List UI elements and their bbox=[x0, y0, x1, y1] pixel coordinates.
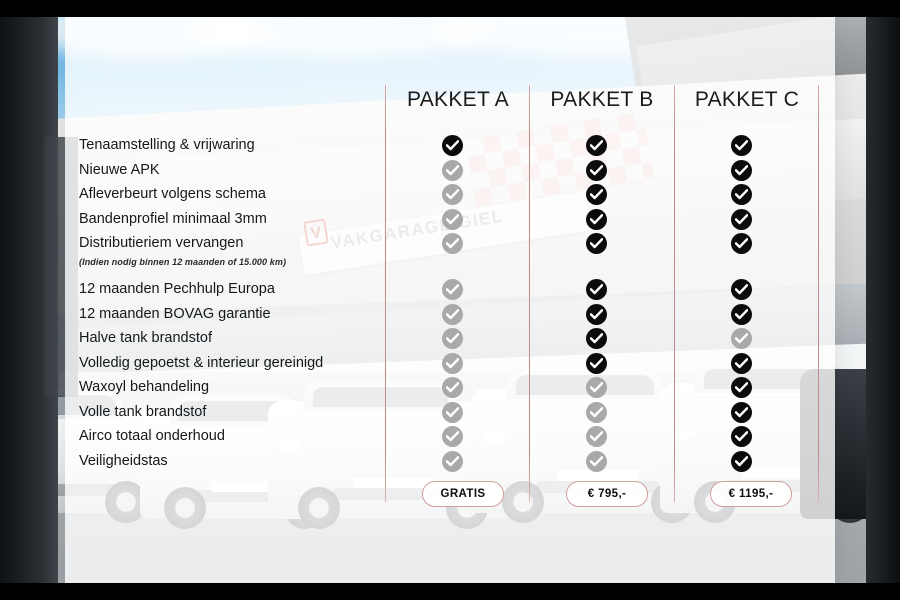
check-excluded-icon bbox=[442, 353, 463, 374]
column-divider bbox=[385, 85, 386, 502]
feature-label: Volle tank brandstof bbox=[79, 404, 206, 420]
check-included-icon bbox=[586, 135, 607, 156]
feature-label: Volledig gepoetst & interieur gereinigd bbox=[79, 355, 323, 371]
check-included-icon bbox=[731, 451, 752, 472]
column-header-pakket-c: PAKKET C bbox=[675, 88, 819, 112]
check-included-icon bbox=[731, 184, 752, 205]
check-excluded-icon bbox=[586, 377, 607, 398]
check-included-icon bbox=[731, 304, 752, 325]
check-included-icon bbox=[731, 160, 752, 181]
check-excluded-icon bbox=[586, 402, 607, 423]
feature-label: Tenaamstelling & vrijwaring bbox=[79, 137, 255, 153]
check-included-icon bbox=[586, 184, 607, 205]
check-included-icon bbox=[586, 233, 607, 254]
check-excluded-icon bbox=[442, 279, 463, 300]
column-divider bbox=[818, 85, 819, 502]
check-excluded-icon bbox=[442, 451, 463, 472]
feature-footnote: (Indien nodig binnen 12 maanden of 15.00… bbox=[79, 257, 286, 267]
column-divider bbox=[674, 85, 675, 502]
check-included-icon bbox=[731, 233, 752, 254]
check-included-icon bbox=[731, 426, 752, 447]
check-excluded-icon bbox=[586, 451, 607, 472]
letterbox-top bbox=[0, 0, 900, 17]
feature-label: Veiligheidstas bbox=[79, 453, 168, 469]
column-header-pakket-b: PAKKET B bbox=[530, 88, 674, 112]
check-included-icon bbox=[731, 402, 752, 423]
feature-label: 12 maanden Pechhulp Europa bbox=[79, 281, 275, 297]
feature-label: 12 maanden BOVAG garantie bbox=[79, 306, 271, 322]
feature-label: Bandenprofiel minimaal 3mm bbox=[79, 211, 267, 227]
feature-label: Halve tank brandstof bbox=[79, 330, 212, 346]
check-included-icon bbox=[586, 353, 607, 374]
feature-label: Nieuwe APK bbox=[79, 162, 160, 178]
check-excluded-icon bbox=[442, 304, 463, 325]
package-comparison-table: PAKKET A PAKKET B PAKKET C Tenaamstellin… bbox=[0, 0, 900, 600]
column-divider bbox=[529, 85, 530, 502]
feature-label: Airco totaal onderhoud bbox=[79, 428, 225, 444]
feature-label: Distributieriem vervangen bbox=[79, 235, 243, 251]
check-included-icon bbox=[586, 160, 607, 181]
price-button-pakket-a[interactable]: GRATIS bbox=[422, 481, 504, 507]
check-excluded-icon bbox=[442, 402, 463, 423]
letterbox-bottom bbox=[0, 583, 900, 600]
check-included-icon bbox=[586, 328, 607, 349]
check-included-icon bbox=[731, 135, 752, 156]
check-excluded-icon bbox=[442, 377, 463, 398]
check-included-icon bbox=[731, 377, 752, 398]
check-included-icon bbox=[586, 304, 607, 325]
check-included-icon bbox=[586, 279, 607, 300]
price-button-pakket-c[interactable]: € 1195,- bbox=[710, 481, 792, 507]
check-included-icon bbox=[731, 353, 752, 374]
check-excluded-icon bbox=[731, 328, 752, 349]
check-excluded-icon bbox=[442, 233, 463, 254]
check-excluded-icon bbox=[442, 160, 463, 181]
price-button-pakket-b[interactable]: € 795,- bbox=[566, 481, 648, 507]
screenshot-root: V VAKGARAGE GIEL bbox=[0, 0, 900, 600]
check-excluded-icon bbox=[442, 184, 463, 205]
check-included-icon bbox=[442, 135, 463, 156]
check-included-icon bbox=[586, 209, 607, 230]
feature-label: Afleverbeurt volgens schema bbox=[79, 186, 266, 202]
feature-label: Waxoyl behandeling bbox=[79, 379, 209, 395]
check-excluded-icon bbox=[586, 426, 607, 447]
column-header-pakket-a: PAKKET A bbox=[386, 88, 530, 112]
check-excluded-icon bbox=[442, 328, 463, 349]
check-excluded-icon bbox=[442, 426, 463, 447]
check-included-icon bbox=[731, 279, 752, 300]
check-included-icon bbox=[731, 209, 752, 230]
check-excluded-icon bbox=[442, 209, 463, 230]
